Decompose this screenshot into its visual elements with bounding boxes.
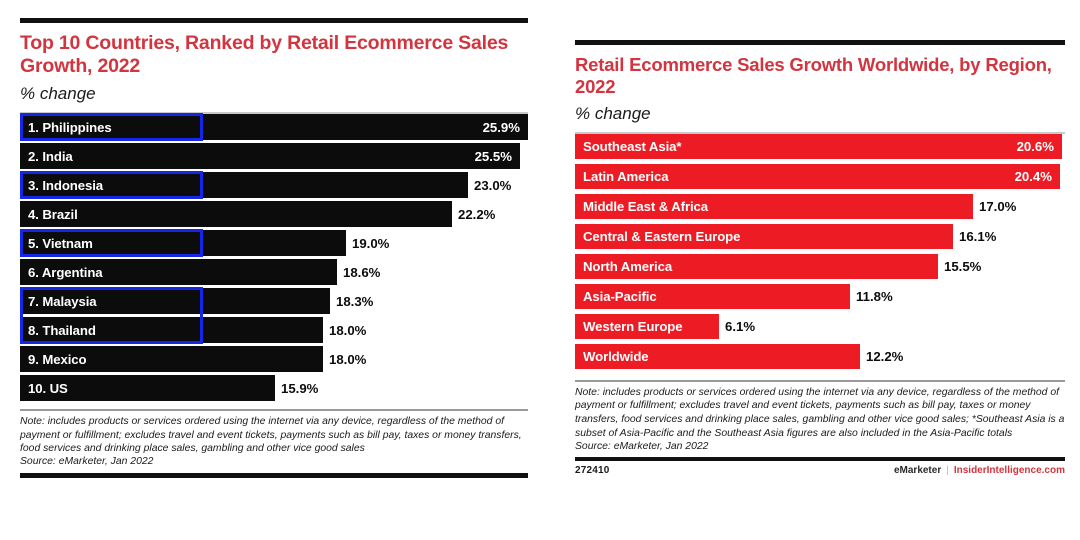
bar-value-label: 23.0% [468,178,511,193]
left-chart-panel: Top 10 Countries, Ranked by Retail Ecomm… [0,0,545,540]
bar-value-label: 18.3% [330,294,373,309]
bar-row: Asia-Pacific11.8% [575,284,1065,309]
bar-row: North America15.5% [575,254,1065,279]
right-chart-title: Retail Ecommerce Sales Growth Worldwide,… [575,54,1065,98]
bar-category-label: Central & Eastern Europe [575,229,740,244]
bar-category-label: 5. Vietnam [20,236,93,251]
bar-category-label: 4. Brazil [20,207,78,222]
bar-row: 5. Vietnam19.0% [20,230,528,256]
bar-row: 6. Argentina18.6% [20,259,528,285]
bar-value-label: 18.6% [337,265,380,280]
bar: 10. US [20,375,275,401]
bar-row: 7. Malaysia18.3% [20,288,528,314]
bar: 9. Mexico [20,346,323,372]
bar-category-label: North America [575,259,672,274]
brand-emarketer: eMarketer [894,465,941,476]
bar: 4. Brazil [20,201,452,227]
bar: 2. India25.5% [20,143,520,169]
left-chart-title: Top 10 Countries, Ranked by Retail Ecomm… [20,32,528,78]
bar-category-label: Middle East & Africa [575,199,708,214]
bar-value-label: 22.2% [452,207,495,222]
bar-value-label: 18.0% [323,323,366,338]
bar-category-label: 9. Mexico [20,352,86,367]
right-footer: 272410 eMarketer | InsiderIntelligence.c… [575,461,1065,476]
bar-row: 10. US15.9% [20,375,528,401]
right-top-rule [575,40,1065,45]
bar-row: Middle East & Africa17.0% [575,194,1065,219]
bar-value-label: 20.6% [1017,139,1054,154]
bar-value-label: 12.2% [860,349,903,364]
brand-separator: | [946,465,949,476]
brand-lockup: eMarketer | InsiderIntelligence.com [894,465,1065,476]
bar: Asia-Pacific [575,284,850,309]
right-source: Source: eMarketer, Jan 2022 [575,441,1065,452]
bar: Middle East & Africa [575,194,973,219]
bar-row: Worldwide12.2% [575,344,1065,369]
bar-value-label: 19.0% [346,236,389,251]
bar-value-label: 15.9% [275,381,318,396]
bar-row: Southeast Asia*20.6% [575,134,1065,159]
bar-row: 8. Thailand18.0% [20,317,528,343]
bar-category-label: Worldwide [575,349,649,364]
bar-row: Western Europe6.1% [575,314,1065,339]
left-note: Note: includes products or services orde… [20,411,528,456]
bar-value-label: 16.1% [953,229,996,244]
bar-row: 3. Indonesia23.0% [20,172,528,198]
bar-category-label: Latin America [575,169,668,184]
bar-category-label: Western Europe [575,319,682,334]
bar-category-label: 2. India [20,149,73,164]
bar: 7. Malaysia [20,288,330,314]
bar-category-label: Southeast Asia* [575,139,681,154]
bar: 6. Argentina [20,259,337,285]
bar: North America [575,254,938,279]
bar-category-label: 7. Malaysia [20,294,97,309]
bar-value-label: 25.9% [483,120,520,135]
bar: 1. Philippines25.9% [20,114,528,140]
bar: Central & Eastern Europe [575,224,953,249]
bar-value-label: 15.5% [938,259,981,274]
bar-row: 2. India25.5% [20,143,528,169]
bar: Latin America20.4% [575,164,1060,189]
bar-category-label: 3. Indonesia [20,178,103,193]
bar: 8. Thailand [20,317,323,343]
bar-category-label: Asia-Pacific [575,289,657,304]
bar-category-label: 1. Philippines [20,120,112,135]
bar-value-label: 6.1% [719,319,755,334]
bar: 5. Vietnam [20,230,346,256]
left-chart-subtitle: % change [20,84,528,104]
right-chart-panel: Retail Ecommerce Sales Growth Worldwide,… [560,0,1080,540]
right-chart-subtitle: % change [575,104,1065,124]
brand-website[interactable]: InsiderIntelligence.com [954,465,1065,476]
bar: Southeast Asia*20.6% [575,134,1062,159]
bar-row: 4. Brazil22.2% [20,201,528,227]
bar-value-label: 20.4% [1015,169,1052,184]
bar-category-label: 8. Thailand [20,323,96,338]
bar-row: Central & Eastern Europe16.1% [575,224,1065,249]
bar: Western Europe [575,314,719,339]
left-top-rule [20,18,528,23]
bar-category-label: 10. US [20,381,68,396]
bar-value-label: 18.0% [323,352,366,367]
bar-value-label: 17.0% [973,199,1016,214]
bar-row: Latin America20.4% [575,164,1065,189]
left-bottom-rule [20,473,528,478]
right-note: Note: includes products or services orde… [575,382,1065,441]
bar-category-label: 6. Argentina [20,265,103,280]
left-bar-chart: 1. Philippines25.9%2. India25.5%3. Indon… [20,114,528,401]
report-id: 272410 [575,465,610,476]
bar-row: 9. Mexico18.0% [20,346,528,372]
right-bar-chart: Southeast Asia*20.6%Latin America20.4%Mi… [575,134,1065,369]
left-source: Source: eMarketer, Jan 2022 [20,456,528,467]
bar: Worldwide [575,344,860,369]
infographic-page: Top 10 Countries, Ranked by Retail Ecomm… [0,0,1080,540]
bar-value-label: 25.5% [475,149,512,164]
bar: 3. Indonesia [20,172,468,198]
bar-value-label: 11.8% [850,289,893,304]
bar-row: 1. Philippines25.9% [20,114,528,140]
